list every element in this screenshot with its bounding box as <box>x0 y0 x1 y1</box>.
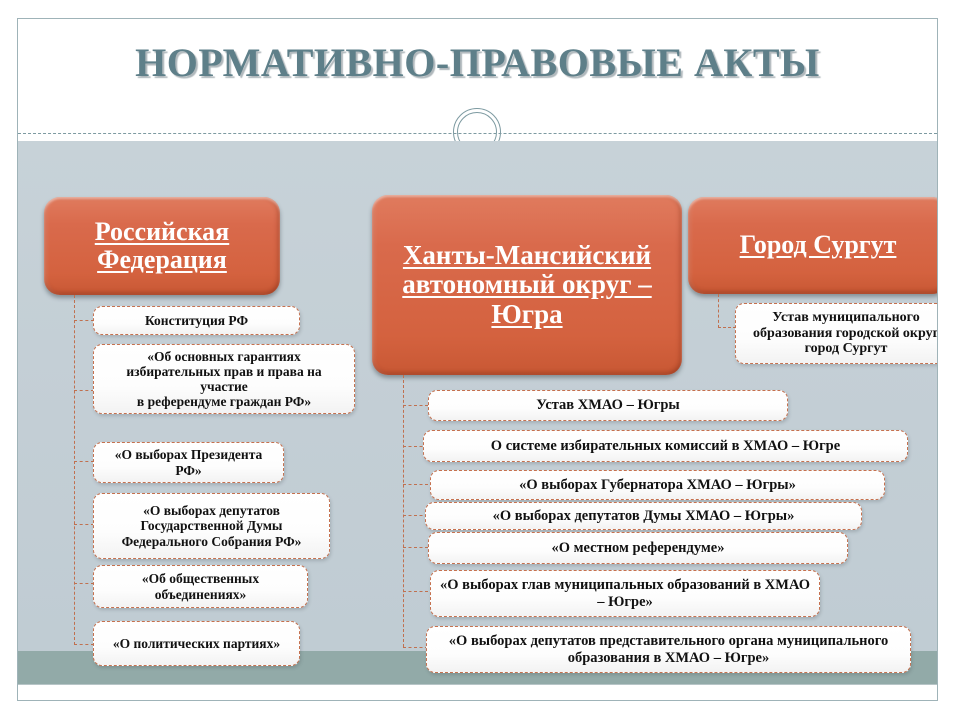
list-item[interactable]: «О выборах депутатов Государственной Дум… <box>93 493 330 559</box>
list-item[interactable]: «О выборах глав муниципальных образовани… <box>430 570 820 617</box>
connector-branch <box>403 647 428 648</box>
connector-branch <box>718 327 736 328</box>
column-header-city-surgut[interactable]: Город Сургут <box>688 197 938 294</box>
footer-white-strip <box>18 684 937 701</box>
connector-branch <box>74 524 94 525</box>
connector-branch <box>403 484 428 485</box>
connector-branch <box>74 583 94 584</box>
list-item[interactable]: «О выборах Губернатора ХМАО – Югры» <box>430 470 885 500</box>
list-item[interactable]: «Об основных гарантиях избирательных пра… <box>93 344 355 414</box>
list-item[interactable]: «О местном референдуме» <box>428 532 848 564</box>
connector-spine-right <box>718 294 719 328</box>
connector-spine-left <box>74 295 75 645</box>
list-item[interactable]: «О выборах депутатов представительного о… <box>426 626 911 673</box>
connector-branch <box>74 390 94 391</box>
list-item[interactable]: «О выборах Президента РФ» <box>93 442 284 483</box>
list-item[interactable]: «О политических партиях» <box>93 621 300 666</box>
list-item[interactable]: «Об общественных объединениях» <box>93 565 308 608</box>
list-item[interactable]: Конституция РФ <box>93 306 300 335</box>
connector-branch <box>403 591 428 592</box>
connector-branch <box>74 644 94 645</box>
connector-branch <box>403 547 428 548</box>
connector-spine-center <box>403 375 404 647</box>
connector-branch <box>74 461 94 462</box>
connector-branch <box>74 320 94 321</box>
list-item[interactable]: Устав муниципального образования городск… <box>735 303 938 364</box>
column-header-khanty-mansi[interactable]: Ханты-Мансийский автономный округ – Югра <box>372 195 682 375</box>
list-item[interactable]: О системе избирательных комиссий в ХМАО … <box>423 430 908 462</box>
list-item[interactable]: Устав ХМАО – Югры <box>428 390 788 421</box>
slide-canvas: НОРМАТИВНО-ПРАВОВЫЕ АКТЫ Российская Феде… <box>17 18 938 701</box>
connector-branch <box>403 405 428 406</box>
column-header-russian-federation[interactable]: Российская Федерация <box>44 197 280 295</box>
list-item[interactable]: «О выборах депутатов Думы ХМАО – Югры» <box>425 502 862 530</box>
page-title: НОРМАТИВНО-ПРАВОВЫЕ АКТЫ <box>18 39 937 86</box>
